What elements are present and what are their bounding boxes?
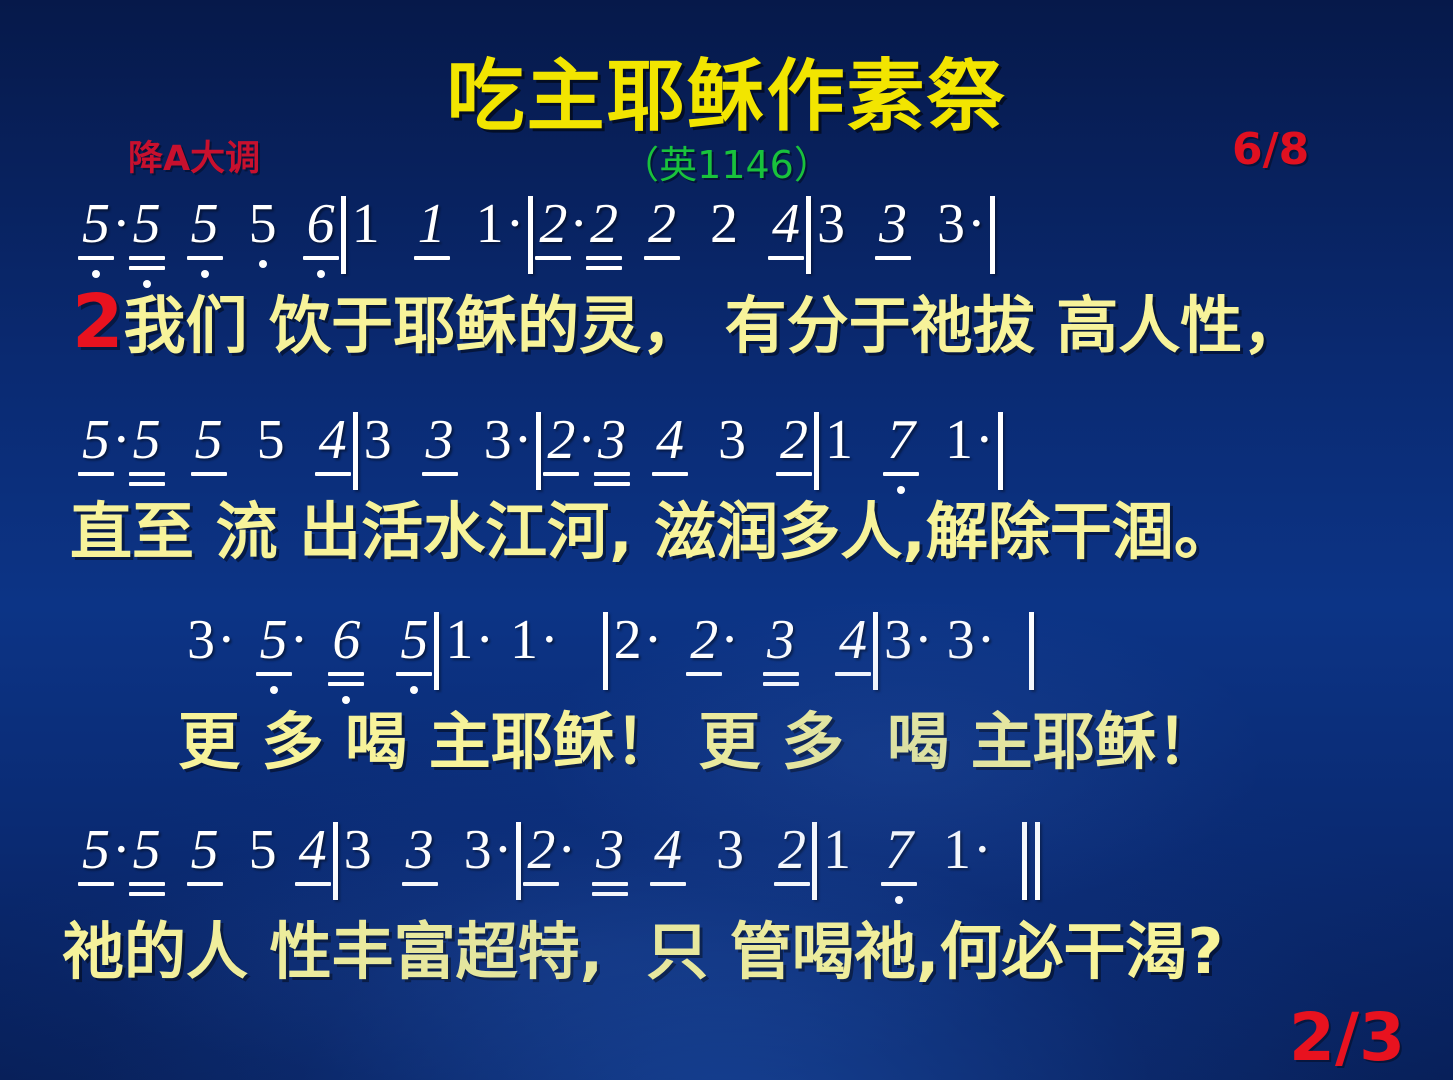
note-beam <box>650 882 686 886</box>
barline <box>873 612 878 690</box>
note-beam <box>763 682 799 686</box>
barline <box>990 196 995 274</box>
jianpu-note: 3 <box>342 822 374 878</box>
jianpu-note: 5 <box>258 612 290 668</box>
jianpu-note: 2 <box>646 196 678 252</box>
jianpu-note: 4 <box>770 196 802 252</box>
octave-dot-low <box>317 270 325 278</box>
lyric-text: 更 多 喝 主耶稣！ 更 多 喝 主耶稣！ <box>178 705 1219 778</box>
note-beam <box>414 256 450 260</box>
barline <box>812 822 817 900</box>
barline <box>536 412 541 490</box>
jianpu-note: 5 <box>247 196 279 252</box>
note-beam <box>586 256 622 260</box>
note-beam <box>129 482 165 486</box>
jianpu-note: 4 <box>317 412 349 468</box>
jianpu-note: 5 <box>189 822 221 878</box>
jianpu-note: 2 <box>708 196 740 252</box>
barline <box>806 196 811 274</box>
jianpu-note: 6 <box>305 196 337 252</box>
jianpu-note: 5 <box>189 196 221 252</box>
note-beam <box>402 882 438 886</box>
jianpu-note: 2 <box>525 822 557 878</box>
augmentation-dot: · <box>569 196 588 252</box>
augmentation-dot: · <box>644 612 663 668</box>
time-signature: 6/8 <box>1232 124 1309 175</box>
octave-dot-low <box>259 260 267 268</box>
jianpu-note: 1 <box>941 822 973 878</box>
augmentation-dot: · <box>112 196 131 252</box>
note-beam <box>129 266 165 270</box>
lyric-text: 直至 流 出活水江河, 滋润多人,解除干涸。 <box>70 495 1236 568</box>
jianpu-note: 7 <box>883 822 915 878</box>
jianpu-note: 3 <box>424 412 456 468</box>
note-beam <box>523 882 559 886</box>
verse-number: 2 <box>72 279 124 365</box>
jianpu-note: 6 <box>330 612 362 668</box>
jianpu-note: 1 <box>443 612 475 668</box>
jianpu-note: 1 <box>821 822 853 878</box>
barline <box>1035 822 1040 900</box>
jianpu-note: 3 <box>877 196 909 252</box>
jianpu-note: 3 <box>594 822 626 878</box>
barline <box>434 612 439 690</box>
page-number: 2/3 <box>1289 999 1405 1076</box>
augmentation-dot: · <box>577 412 596 468</box>
note-beam <box>129 882 165 886</box>
barline <box>603 612 608 690</box>
note-beam <box>187 256 223 260</box>
jianpu-note: 3 <box>935 196 967 252</box>
augmentation-dot: · <box>557 822 576 878</box>
jianpu-note: 5 <box>131 196 163 252</box>
barline <box>998 412 1003 490</box>
jianpu-note: 5 <box>131 412 163 468</box>
jianpu-note: 5 <box>398 612 430 668</box>
jianpu-note: 3 <box>765 612 797 668</box>
jianpu-note: 3 <box>714 822 746 878</box>
note-beam <box>129 472 165 476</box>
jianpu-note: 3 <box>185 612 217 668</box>
lyric-text: 我们 饮于耶稣的灵， 有分于祂拔 高人性， <box>124 289 1305 362</box>
lyric-line: 直至 流 出活水江河, 滋润多人,解除干涸。 <box>70 498 1236 566</box>
note-beam <box>303 256 339 260</box>
note-beam <box>592 892 628 896</box>
octave-dot-low <box>143 280 151 288</box>
augmentation-dot: · <box>494 822 513 878</box>
note-beam <box>315 472 351 476</box>
note-beam <box>763 672 799 676</box>
jianpu-note: 3 <box>482 412 514 468</box>
note-beam <box>776 472 812 476</box>
octave-dot-low <box>895 896 903 904</box>
barline <box>1022 822 1027 900</box>
augmentation-dot: · <box>977 612 996 668</box>
jianpu-note: 2 <box>776 822 808 878</box>
octave-dot-low <box>270 686 278 694</box>
jianpu-note: 1 <box>508 612 540 668</box>
note-beam <box>881 882 917 886</box>
barline <box>1029 612 1034 690</box>
note-beam <box>652 472 688 476</box>
note-beam <box>129 892 165 896</box>
jianpu-note: 3 <box>716 412 748 468</box>
jianpu-note: 2 <box>688 612 720 668</box>
augmentation-dot: · <box>112 412 131 468</box>
jianpu-note: 3 <box>596 412 628 468</box>
augmentation-dot: · <box>290 612 309 668</box>
note-beam <box>78 472 114 476</box>
note-beam <box>835 672 871 676</box>
note-beam <box>328 672 364 676</box>
jianpu-note: 1 <box>350 196 382 252</box>
note-beam <box>543 472 579 476</box>
note-beam <box>644 256 680 260</box>
note-beam <box>535 256 571 260</box>
jianpu-note: 4 <box>654 412 686 468</box>
jianpu-note: 5 <box>80 412 112 468</box>
barline <box>341 196 346 274</box>
augmentation-dot: · <box>217 612 236 668</box>
note-beam <box>191 472 227 476</box>
note-beam <box>256 672 292 676</box>
lyric-line: 2我们 饮于耶稣的灵， 有分于祂拔 高人性， <box>72 288 1304 360</box>
augmentation-dot: · <box>475 612 494 668</box>
notation-line: 5·5554333·2·3432171· <box>80 822 1044 910</box>
slide-canvas: 降A大调 吃主耶稣作素祭 （英1146） 6/8 5·5556111·2·222… <box>0 0 1453 1080</box>
note-beam <box>396 672 432 676</box>
lyric-text: 祂的人 性丰富超特, 只 管喝祂,何必干渴? <box>62 915 1223 988</box>
note-beam <box>129 256 165 260</box>
jianpu-note: 3 <box>362 412 394 468</box>
augmentation-dot: · <box>973 822 992 878</box>
jianpu-note: 7 <box>885 412 917 468</box>
note-beam <box>594 482 630 486</box>
note-beam <box>422 472 458 476</box>
jianpu-note: 2 <box>612 612 644 668</box>
note-beam <box>883 472 919 476</box>
note-beam <box>774 882 810 886</box>
notation-line: 5·5556111·2·2224333· <box>80 196 999 284</box>
jianpu-note: 2 <box>537 196 569 252</box>
jianpu-note: 3 <box>404 822 436 878</box>
jianpu-note: 1 <box>943 412 975 468</box>
jianpu-note: 5 <box>131 822 163 878</box>
jianpu-note: 5 <box>193 412 225 468</box>
octave-dot-low <box>410 686 418 694</box>
jianpu-note: 3 <box>945 612 977 668</box>
jianpu-note: 3 <box>462 822 494 878</box>
note-beam <box>586 266 622 270</box>
barline <box>528 196 533 274</box>
notation-line: 3·5·651·1·2·2·343·3· <box>185 612 1038 700</box>
augmentation-dot: · <box>540 612 559 668</box>
jianpu-note: 1 <box>474 196 506 252</box>
note-beam <box>295 882 331 886</box>
note-beam <box>686 672 722 676</box>
augmentation-dot: · <box>914 612 933 668</box>
lyric-line: 更 多 喝 主耶稣！ 更 多 喝 主耶稣！ <box>178 708 1219 776</box>
lyric-line: 祂的人 性丰富超特, 只 管喝祂,何必干渴? <box>62 918 1223 986</box>
jianpu-note: 3 <box>815 196 847 252</box>
jianpu-note: 5 <box>80 822 112 878</box>
note-beam <box>78 256 114 260</box>
augmentation-dot: · <box>967 196 986 252</box>
jianpu-note: 2 <box>778 412 810 468</box>
note-beam <box>594 472 630 476</box>
note-beam <box>768 256 804 260</box>
note-beam <box>328 682 364 686</box>
note-beam <box>592 882 628 886</box>
jianpu-note: 5 <box>255 412 287 468</box>
barline <box>353 412 358 490</box>
note-beam <box>78 882 114 886</box>
jianpu-note: 2 <box>588 196 620 252</box>
jianpu-note: 5 <box>247 822 279 878</box>
augmentation-dot: · <box>514 412 533 468</box>
note-beam <box>187 882 223 886</box>
augmentation-dot: · <box>506 196 525 252</box>
augmentation-dot: · <box>112 822 131 878</box>
jianpu-note: 1 <box>823 412 855 468</box>
octave-dot-low <box>201 270 209 278</box>
barline <box>814 412 819 490</box>
octave-dot-low <box>342 696 350 704</box>
augmentation-dot: · <box>975 412 994 468</box>
jianpu-note: 3 <box>882 612 914 668</box>
jianpu-note: 4 <box>297 822 329 878</box>
notation-line: 5·5554333·2·3432171· <box>80 412 1007 500</box>
augmentation-dot: · <box>720 612 739 668</box>
octave-dot-low <box>897 486 905 494</box>
note-beam <box>875 256 911 260</box>
jianpu-note: 5 <box>80 196 112 252</box>
jianpu-note: 4 <box>837 612 869 668</box>
jianpu-note: 2 <box>545 412 577 468</box>
barline <box>516 822 521 900</box>
jianpu-note: 1 <box>416 196 448 252</box>
jianpu-note: 4 <box>652 822 684 878</box>
octave-dot-low <box>92 270 100 278</box>
barline <box>333 822 338 900</box>
